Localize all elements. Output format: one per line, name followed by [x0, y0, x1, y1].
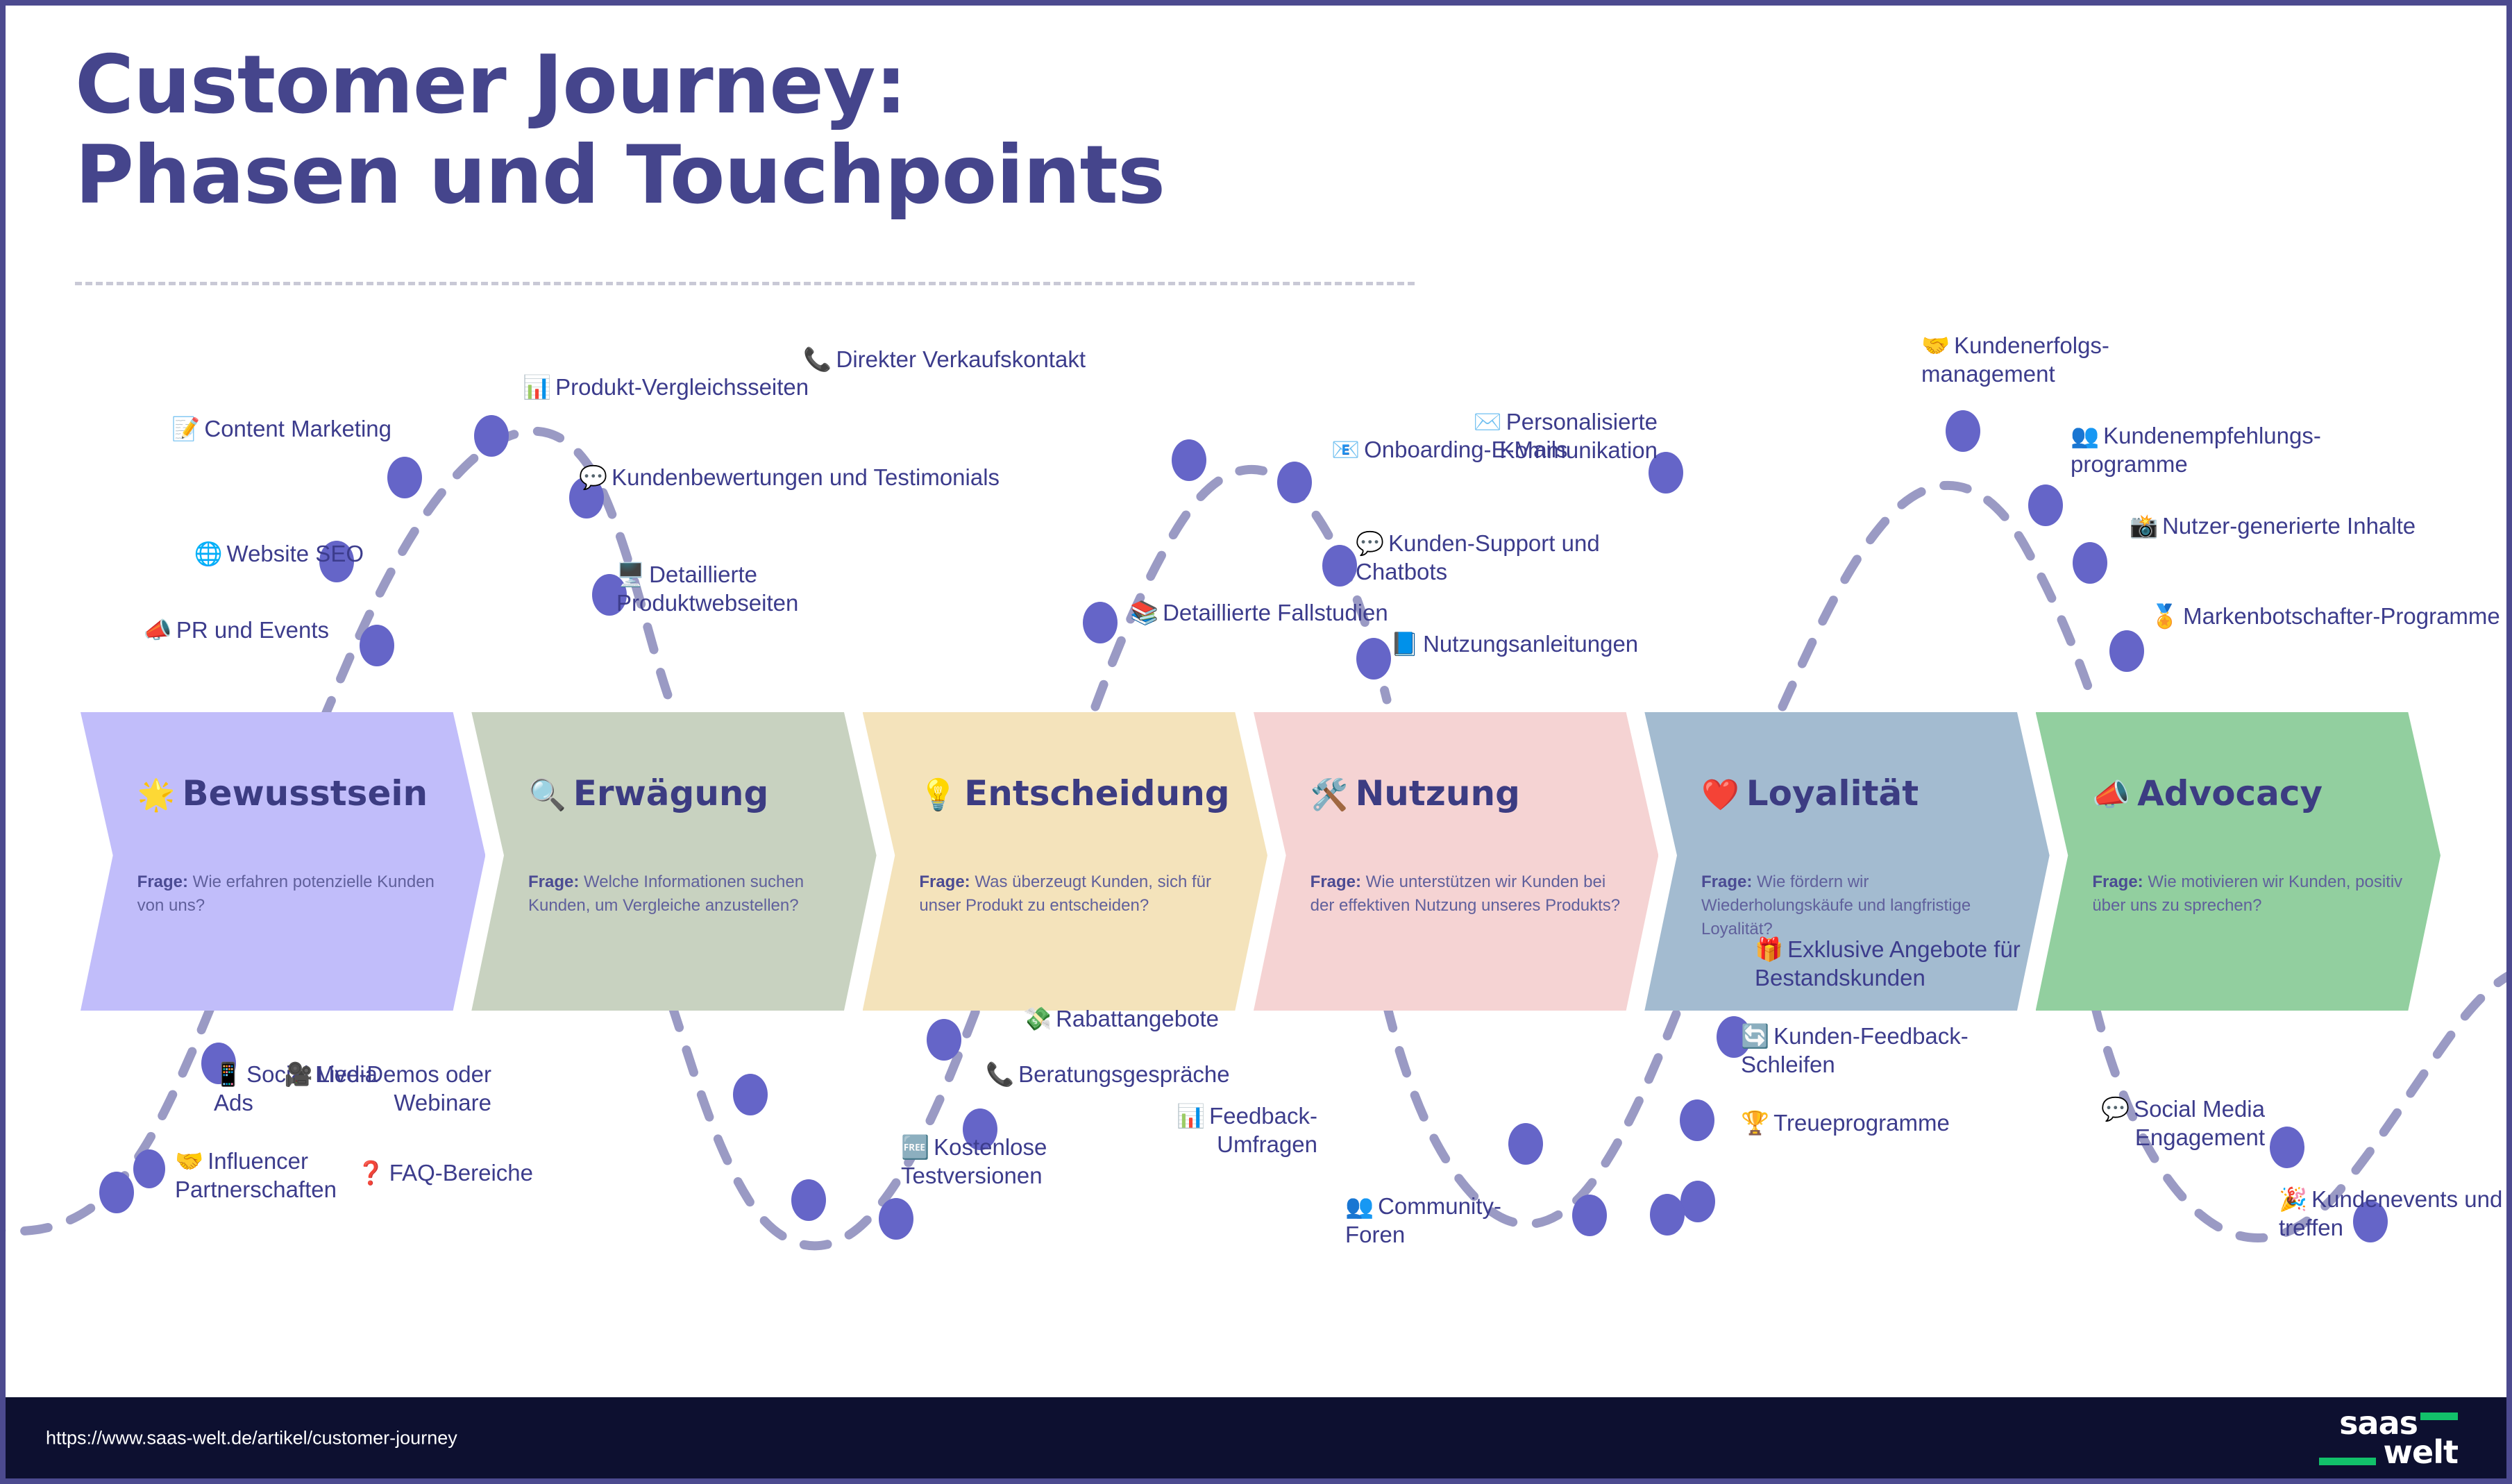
blue-book-icon: 📘 — [1390, 631, 1419, 657]
light-bulb-icon: 💡 — [919, 777, 957, 813]
phase-question: Frage: Was überzeugt Kunden, sich für un… — [919, 870, 1237, 918]
touchpoint-label[interactable]: 📣PR und Events — [51, 616, 329, 645]
touchpoint-text: Beratungsgespräche — [1018, 1061, 1230, 1087]
phase-content: 📣AdvocacyFrage: Wie motivieren wir Kunde… — [2092, 712, 2392, 1011]
memo-icon: 📝 — [171, 416, 200, 441]
speech-balloon-icon: 💬 — [2101, 1096, 2130, 1122]
touchpoint-label[interactable]: 📝Content Marketing — [162, 415, 391, 444]
touchpoint-label[interactable]: 🏅Markenbotschafter-Programme — [2150, 602, 2506, 631]
touchpoint-label[interactable]: 🎁Exklusive Angebote für Bestandskunden — [1755, 936, 2088, 993]
footer-url[interactable]: https://www.saas-welt.de/artikel/custome… — [46, 1427, 457, 1449]
touchpoint-label[interactable]: 📘Nutzungsanleitungen — [1390, 630, 1737, 659]
touchpoint-text: Kundenempfehlungs-programme — [2071, 423, 2321, 477]
touchpoint-text: Produkt-Vergleichsseiten — [555, 374, 809, 400]
phase-card-entscheidung[interactable]: 💡EntscheidungFrage: Was überzeugt Kunden… — [863, 712, 1267, 1011]
phase-title-label: Entscheidung — [964, 773, 1229, 813]
touchpoint-label[interactable]: 🔄Kunden-Feedback-Schleifen — [1741, 1022, 2046, 1079]
mobile-phone-icon: 📱 — [214, 1061, 242, 1087]
touchpoint-label[interactable]: 🎥Live-Demos oder Webinare — [248, 1061, 491, 1118]
phase-title-label: Bewusstsein — [182, 773, 428, 813]
phase-title: ❤️Loyalität — [1701, 773, 1919, 813]
touchpoint-label[interactable]: 💸Rabattangebote — [1023, 1005, 1301, 1034]
phase-title: 💡Entscheidung — [919, 773, 1229, 813]
phase-question: Frage: Wie fördern wir Wiederholungskäuf… — [1701, 870, 2019, 941]
touchpoint-text: Content Marketing — [204, 416, 391, 441]
touchpoint-text: Kundenbewertungen und Testimonials — [612, 464, 1000, 490]
handshake-icon: 🤝 — [175, 1148, 203, 1174]
touchpoint-text: Feedback-Umfragen — [1209, 1103, 1317, 1157]
touchpoint-label[interactable]: 💬Kunden-Support und Chatbots — [1356, 530, 1668, 587]
phase-title: 📣Advocacy — [2092, 773, 2323, 813]
phase-question: Frage: Welche Informationen suchen Kunde… — [528, 870, 846, 918]
touchpoint-text: Nutzer-generierte Inhalte — [2162, 513, 2416, 539]
phase-title: 🛠️Nutzung — [1310, 773, 1520, 813]
touchpoint-label[interactable]: 💬Kundenbewertungen und Testimonials — [579, 464, 1134, 492]
phase-card-bewusstsein[interactable]: 🌟BewusstseinFrage: Wie erfahren potenzie… — [81, 712, 485, 1011]
phase-band: 🌟BewusstseinFrage: Wie erfahren potenzie… — [6, 712, 2506, 1011]
hammer-and-wrench-icon: 🛠️ — [1310, 777, 1349, 813]
phase-title-label: Loyalität — [1746, 773, 1919, 813]
books-icon: 📚 — [1130, 600, 1158, 625]
touchpoint-label[interactable]: 📊Produkt-Vergleichsseiten — [523, 373, 842, 402]
page-title: Customer Journey: Phasen und Touchpoints — [75, 40, 1602, 221]
desktop-computer-icon: 🖥️ — [616, 562, 645, 587]
touchpoint-text: Social Media Engagement — [2134, 1096, 2265, 1150]
phase-question-label: Frage: — [1701, 872, 1752, 891]
logo-accent-bar-bottom — [2319, 1458, 2376, 1465]
phase-question-label: Frage: — [137, 872, 188, 891]
magnifying-glass-icon: 🔍 — [528, 777, 566, 813]
touchpoint-label[interactable]: 📸Nutzer-generierte Inhalte — [2130, 512, 2428, 541]
camera-with-flash-icon: 📸 — [2130, 513, 2158, 539]
phase-question-label: Frage: — [1310, 872, 1361, 891]
touchpoint-text: Website SEO — [227, 541, 364, 566]
globe-icon: 🌐 — [194, 541, 222, 566]
wrapped-gift-icon: 🎁 — [1755, 936, 1783, 962]
speech-balloon-icon: 💬 — [1356, 530, 1384, 556]
busts-in-silhouette-icon: 👥 — [2071, 423, 2099, 448]
phase-content: 🔍ErwägungFrage: Welche Informationen suc… — [528, 712, 828, 1011]
question-mark-icon: ❓ — [357, 1160, 385, 1186]
touchpoint-text: Nutzungsanleitungen — [1423, 631, 1638, 657]
money-with-wings-icon: 💸 — [1023, 1006, 1052, 1031]
envelope-icon: ✉️ — [1474, 409, 1502, 435]
megaphone-icon: 📣 — [144, 617, 172, 643]
footer-bar: https://www.saas-welt.de/artikel/custome… — [6, 1397, 2506, 1478]
phase-content: 🛠️NutzungFrage: Wie unterstützen wir Kun… — [1310, 712, 1610, 1011]
touchpoint-text: PR und Events — [176, 617, 329, 643]
touchpoint-text: Kunden-Feedback-Schleifen — [1741, 1023, 1969, 1077]
phase-question: Frage: Wie motivieren wir Kunden, positi… — [2092, 870, 2410, 918]
touchpoint-label[interactable]: 🌐Website SEO — [86, 540, 364, 568]
touchpoint-label[interactable]: 📞Direkter Verkaufskontakt — [794, 346, 1086, 374]
touchpoint-text: Personalisierte Kommunikation — [1500, 409, 1658, 463]
free-button-icon: 🆓 — [901, 1134, 929, 1160]
bar-chart-icon: 📊 — [523, 374, 551, 400]
touchpoint-text: FAQ-Bereiche — [389, 1160, 533, 1186]
phase-title-label: Advocacy — [2137, 773, 2323, 813]
busts-in-silhouette-icon: 👥 — [1345, 1193, 1374, 1219]
touchpoint-label[interactable]: 📚Detaillierte Fallstudien — [1130, 599, 1408, 627]
phase-card-advocacy[interactable]: 📣AdvocacyFrage: Wie motivieren wir Kunde… — [2036, 712, 2441, 1011]
saas-welt-logo[interactable]: saas welt — [2277, 1408, 2458, 1468]
touchpoint-text: Kundenevents und -treffen — [2279, 1186, 2506, 1240]
bar-chart-icon: 📊 — [1177, 1103, 1205, 1129]
touchpoint-text: Detaillierte Fallstudien — [1163, 600, 1388, 625]
handshake-icon: 🤝 — [1921, 332, 1950, 358]
phase-title: 🌟Bewusstsein — [137, 773, 428, 813]
touchpoint-label[interactable]: 🎉Kundenevents und -treffen — [2279, 1186, 2506, 1242]
glowing-star-icon: 🌟 — [137, 777, 176, 813]
touchpoint-label[interactable]: 🖥️Detaillierte Produktwebseiten — [616, 561, 943, 618]
phase-title-label: Nutzung — [1355, 773, 1519, 813]
sports-medal-icon: 🏅 — [2150, 603, 2179, 629]
touchpoint-text: Live-Demos oder Webinare — [317, 1061, 491, 1115]
phase-question-label: Frage: — [2092, 872, 2143, 891]
phase-title-label: Erwägung — [573, 773, 769, 813]
megaphone-icon: 📣 — [2092, 777, 2130, 813]
phase-card-erwgung[interactable]: 🔍ErwägungFrage: Welche Informationen suc… — [471, 712, 876, 1011]
touchpoint-text: Kunden-Support und Chatbots — [1356, 530, 1600, 584]
e-mail-icon: 📧 — [1331, 437, 1360, 462]
touchpoint-text: Direkter Verkaufskontakt — [836, 346, 1086, 372]
red-heart-icon: ❤️ — [1701, 777, 1739, 813]
touchpoint-label[interactable]: ✉️Personalisierte Kommunikation — [1366, 408, 1658, 465]
infographic-canvas: Customer Journey: Phasen und Touchpoints — [6, 6, 2506, 1478]
logo-accent-bar-top — [2420, 1413, 2458, 1420]
touchpoint-label[interactable]: 👥Community-Foren — [1345, 1192, 1553, 1249]
phase-question-label: Frage: — [919, 872, 970, 891]
touchpoint-text: Exklusive Angebote für Bestandskunden — [1755, 936, 2021, 990]
phase-content: 🌟BewusstseinFrage: Wie erfahren potenzie… — [137, 712, 437, 1011]
title-block: Customer Journey: Phasen und Touchpoints — [75, 40, 1602, 221]
telephone-receiver-icon: 📞 — [803, 346, 832, 372]
touchpoint-label[interactable]: 📊Feedback-Umfragen — [1123, 1102, 1317, 1159]
touchpoint-text: Rabattangebote — [1056, 1006, 1219, 1031]
phase-card-nutzung[interactable]: 🛠️NutzungFrage: Wie unterstützen wir Kun… — [1254, 712, 1658, 1011]
telephone-receiver-icon: 📞 — [986, 1061, 1014, 1087]
movie-camera-icon: 🎥 — [285, 1061, 313, 1087]
speech-balloon-icon: 💬 — [579, 464, 607, 490]
phase-title: 🔍Erwägung — [528, 773, 768, 813]
touchpoint-label[interactable]: 📞Beratungsgespräche — [986, 1061, 1298, 1089]
touchpoint-label[interactable]: 🆓Kostenlose Testversionen — [901, 1133, 1144, 1190]
phase-question: Frage: Wie unterstützen wir Kunden bei d… — [1310, 870, 1628, 918]
trophy-icon: 🏆 — [1741, 1110, 1769, 1136]
arrows-counterclockwise-icon: 🔄 — [1741, 1023, 1769, 1049]
touchpoint-text: Treueprogramme — [1773, 1110, 1950, 1136]
logo-text-welt: welt — [2384, 1437, 2458, 1467]
phase-question-label: Frage: — [528, 872, 579, 891]
touchpoint-label[interactable]: 🤝Kundenerfolgs-management — [1921, 332, 2220, 389]
touchpoint-text: Markenbotschafter-Programme — [2183, 603, 2500, 629]
phase-question: Frage: Wie erfahren potenzielle Kunden v… — [137, 870, 455, 918]
phase-content: 💡EntscheidungFrage: Was überzeugt Kunden… — [919, 712, 1219, 1011]
touchpoint-label[interactable]: 👥Kundenempfehlungs-programme — [2071, 422, 2431, 479]
party-popper-icon: 🎉 — [2279, 1186, 2307, 1212]
title-divider — [75, 282, 1415, 285]
touchpoint-label[interactable]: ❓FAQ-Bereiche — [304, 1159, 533, 1188]
touchpoint-label[interactable]: 💬Social Media Engagement — [1987, 1095, 2265, 1152]
